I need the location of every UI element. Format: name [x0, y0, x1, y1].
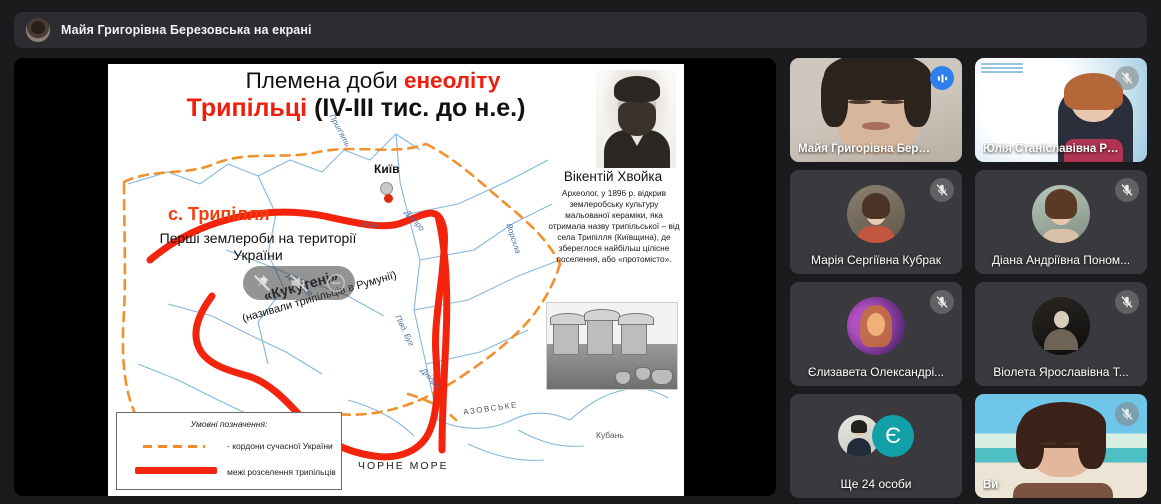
participant-tile-violeta[interactable]: Віолета Ярославівна Т...: [975, 282, 1147, 386]
legend-settlement-label: межі розселення трипільців: [227, 467, 343, 477]
map-marker-kyiv: [380, 182, 393, 195]
unpin-icon[interactable]: [251, 272, 273, 294]
mute-icon[interactable]: [288, 272, 310, 294]
stacked-avatars: Є: [838, 415, 914, 457]
participant-name: Віолета Ярославівна Т...: [975, 365, 1147, 379]
slide-title-line1-accent: енеоліту: [404, 68, 500, 93]
share-hover-controls[interactable]: [243, 266, 355, 300]
mic-off-icon: [1115, 402, 1139, 426]
khvoika-portrait-image: [596, 70, 676, 168]
participant-name: Майя Григорівна Берез...: [798, 143, 936, 155]
participant-name: Єлизавета Олександрі...: [790, 365, 962, 379]
khvoika-name-label: Вікентій Хвойка: [544, 169, 682, 184]
trypillia-settlement-photo: [546, 302, 678, 390]
mic-off-icon: [930, 290, 954, 314]
map-legend: Умовні позначення: - кордони сучасної Ук…: [116, 412, 342, 490]
participant-tile-yulia[interactable]: Юлія Станіславівна Ря...: [975, 58, 1147, 162]
avatar: [847, 185, 905, 243]
presenter-avatar-icon: [26, 18, 50, 42]
participant-name: Марія Сергіївна Кубрак: [790, 253, 962, 267]
map-label-black-sea: ЧОРНЕ МОРЕ: [358, 460, 449, 472]
map-label-trypillia-village: с. Трипілля: [168, 204, 270, 225]
presenter-banner: Майя Григорівна Березовська на екрані: [14, 12, 1147, 48]
mic-off-icon: [1115, 290, 1139, 314]
map-label-kuban: Кубань: [596, 430, 624, 440]
legend-border-label: - кордони сучасної України: [227, 441, 339, 452]
minus-circle-icon[interactable]: [325, 272, 347, 294]
avatar: [847, 297, 905, 355]
avatar-initial: Є: [872, 415, 914, 457]
legend-dashed-line-swatch: [143, 445, 205, 448]
participant-name: Ви: [983, 479, 1121, 491]
mic-off-icon: [1115, 178, 1139, 202]
slide-title-line2-accent: Трипільці: [187, 94, 308, 122]
mic-off-icon: [1115, 66, 1139, 90]
slide-title-line1-plain: Племена доби: [246, 68, 398, 93]
map-label-river-ros: Рось: [362, 222, 378, 229]
participant-tile-maya[interactable]: Майя Григорівна Берез...: [790, 58, 962, 162]
slide-title-line2-plain: (IV-III тис. до н.е.): [314, 94, 525, 122]
participant-name: Діана Андріївна Поном...: [975, 253, 1147, 267]
participant-grid: Майя Григорівна Берез... Юлія Станіславі…: [790, 58, 1147, 498]
avatar: [1032, 185, 1090, 243]
participant-name: Юлія Станіславівна Ря...: [983, 143, 1121, 155]
screen-share-stage[interactable]: Племена доби енеоліту Трипільці (IV-III …: [14, 58, 776, 496]
avatar: [1032, 297, 1090, 355]
shared-slide: Племена доби енеоліту Трипільці (IV-III …: [108, 64, 684, 496]
map-label-first-farmers: Перші землероби на території України: [148, 230, 368, 264]
participant-tile-self[interactable]: Ви: [975, 394, 1147, 498]
presenter-banner-label: Майя Григорівна Березовська на екрані: [61, 23, 312, 37]
map-marker-trypillia: [384, 194, 393, 203]
khvoika-bio-text: Археолог, у 1896 р. відкрив землеробську…: [548, 188, 680, 265]
mic-off-icon: [930, 178, 954, 202]
participant-tile-diana[interactable]: Діана Андріївна Поном...: [975, 170, 1147, 274]
meeting-window: Майя Григорівна Березовська на екрані: [0, 0, 1161, 504]
map-legend-title: Умовні позначення:: [117, 419, 341, 429]
legend-red-line-swatch: [135, 467, 217, 474]
participant-tile-maria[interactable]: Марія Сергіївна Кубрак: [790, 170, 962, 274]
slide-title-line2: Трипільці (IV-III тис. до н.е.): [116, 94, 596, 123]
participant-tile-yelyzaveta[interactable]: Єлизавета Олександрі...: [790, 282, 962, 386]
slide-title-line1: Племена доби енеоліту: [138, 68, 608, 94]
overflow-count-label: Ще 24 особи: [790, 477, 962, 491]
participant-tile-overflow[interactable]: Є Ще 24 особи: [790, 394, 962, 498]
map-label-kyiv: Київ: [374, 162, 399, 176]
audio-level-icon: [930, 66, 954, 90]
